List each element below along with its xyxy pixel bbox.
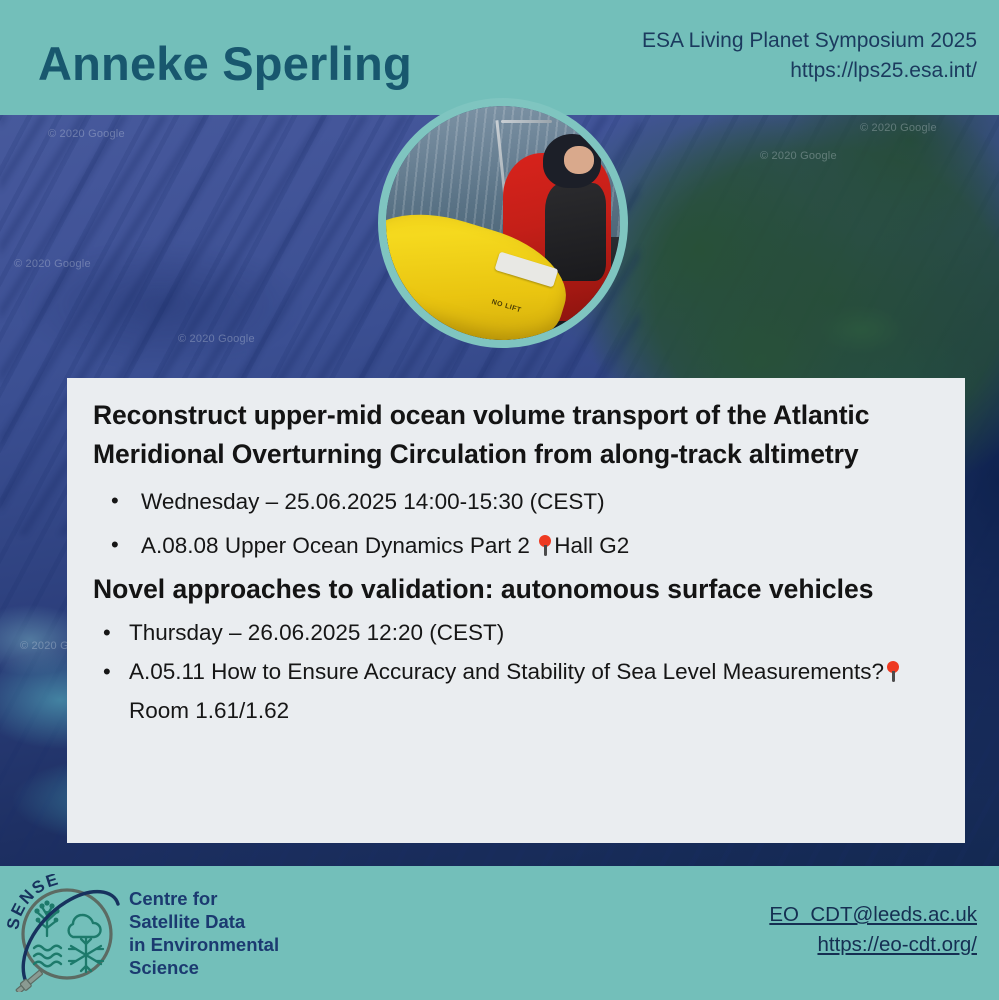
list-item: A.05.11 How to Ensure Accuracy and Stabi… [93, 653, 939, 730]
centre-line-3: in Environmental [129, 934, 279, 957]
talk1-title: Reconstruct upper-mid ocean volume trans… [93, 396, 939, 474]
researcher-face [564, 146, 594, 174]
conference-url[interactable]: https://lps25.esa.int/ [642, 56, 977, 86]
bullet-text: A.08.08 Upper Ocean Dynamics Part 2 [141, 533, 536, 558]
conference-info: ESA Living Planet Symposium 2025 https:/… [642, 26, 977, 86]
page-title: Anneke Sperling [38, 36, 412, 91]
list-item: Thursday – 26.06.2025 12:20 (CEST) [93, 614, 939, 653]
contact-links: EO_CDT@leeds.ac.uk https://eo-cdt.org/ [769, 900, 977, 959]
photo-inner: NO LIFT [386, 106, 620, 340]
google-watermark: © 2020 Google [860, 122, 937, 134]
bullet-text: Wednesday – 25.06.2025 14:00-15:30 (CEST… [141, 489, 605, 514]
google-watermark: © 2020 Google [14, 258, 91, 270]
list-item: Wednesday – 25.06.2025 14:00-15:30 (CEST… [93, 480, 939, 523]
talk1-bullet-list: Wednesday – 25.06.2025 14:00-15:30 (CEST… [93, 480, 939, 566]
sense-logo-svg: SENSE [4, 874, 124, 992]
centre-line-2: Satellite Data [129, 911, 279, 934]
boat-rail-top-icon [501, 120, 552, 123]
website-link[interactable]: https://eo-cdt.org/ [769, 930, 977, 960]
bullet-text: A.05.11 How to Ensure Accuracy and Stabi… [129, 659, 884, 684]
list-item: A.08.08 Upper Ocean Dynamics Part 2 Hall… [93, 524, 939, 567]
location-pin-icon [885, 661, 901, 683]
conference-name: ESA Living Planet Symposium 2025 [642, 26, 977, 56]
content-panel: Reconstruct upper-mid ocean volume trans… [67, 378, 965, 843]
google-watermark: © 2020 Google [178, 333, 255, 345]
centre-line-1: Centre for [129, 888, 279, 911]
google-watermark: © 2020 Google [48, 128, 125, 140]
email-link[interactable]: EO_CDT@leeds.ac.uk [769, 900, 977, 930]
centre-name: Centre for Satellite Data in Environment… [129, 888, 279, 980]
profile-photo: NO LIFT [378, 98, 628, 348]
location-pin-icon [537, 535, 553, 557]
sense-logo: SENSE [4, 874, 124, 992]
talk2-bullet-list: Thursday – 26.06.2025 12:20 (CEST) A.05.… [93, 614, 939, 730]
centre-line-4: Science [129, 957, 279, 980]
bullet-text-after: Room 1.61/1.62 [129, 698, 289, 723]
bullet-text: Thursday – 26.06.2025 12:20 (CEST) [129, 620, 504, 645]
google-watermark: © 2020 Google [760, 150, 837, 162]
talk2-title: Novel approaches to validation: autonomo… [93, 571, 939, 609]
poster-canvas: © 2020 Google © 2020 Google © 2020 Googl… [0, 0, 999, 1000]
bullet-text-after: Hall G2 [554, 533, 629, 558]
footer-bar: SENSE [0, 866, 999, 1000]
